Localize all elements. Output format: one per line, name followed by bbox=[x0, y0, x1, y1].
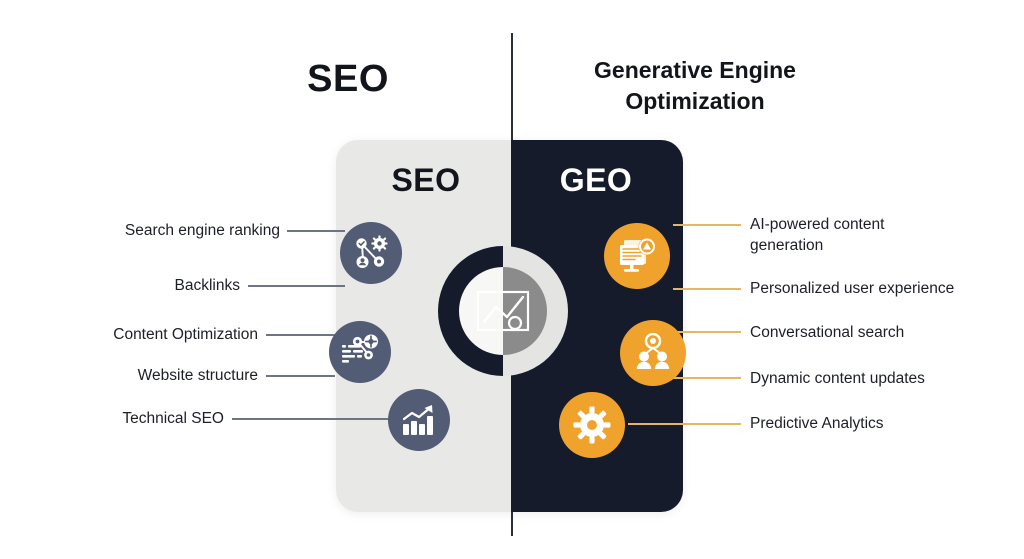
gear-icon bbox=[572, 405, 612, 445]
page-title-geo: Generative Engine Optimization bbox=[565, 55, 825, 116]
connector-seo-5 bbox=[232, 418, 394, 420]
geo-icon-bubble-monitor-ai-document[interactable] bbox=[604, 223, 670, 289]
monitor-ai-document-icon bbox=[616, 235, 658, 277]
page-title-seo: SEO bbox=[258, 60, 438, 98]
page-title-geo-line1: Generative Engine bbox=[565, 55, 825, 86]
page-title-geo-line2: Optimization bbox=[565, 86, 825, 117]
geo-label-line2: generation bbox=[750, 235, 935, 256]
card-label-geo: GEO bbox=[536, 164, 656, 196]
connector-geo-2 bbox=[673, 288, 741, 290]
geo-label-predictive-analytics: Predictive Analytics bbox=[750, 413, 884, 434]
bar-chart-growth-icon bbox=[400, 402, 438, 438]
geo-label-line1: AI-powered content bbox=[750, 214, 935, 235]
connector-geo-5 bbox=[628, 423, 741, 425]
card-label-seo: SEO bbox=[366, 164, 486, 196]
connector-seo-1 bbox=[287, 230, 345, 232]
content-nodes-icon bbox=[340, 333, 380, 371]
seo-icon-bubble-bar-chart-growth[interactable] bbox=[388, 389, 450, 451]
connector-seo-4 bbox=[266, 375, 335, 377]
center-emblem bbox=[431, 239, 575, 383]
seo-icon-bubble-content-nodes[interactable] bbox=[329, 321, 391, 383]
geo-icon-bubble-gear[interactable] bbox=[559, 392, 625, 458]
seo-label-website-structure: Website structure bbox=[70, 365, 258, 386]
connector-geo-1 bbox=[673, 224, 741, 226]
geo-label-dynamic-content-updates: Dynamic content updates bbox=[750, 368, 925, 389]
geo-label-personalized-user-experience: Personalized user experience bbox=[750, 278, 954, 299]
geo-label-ai-powered-content-generation: AI-powered content generation bbox=[750, 214, 935, 257]
connector-seo-3 bbox=[266, 334, 335, 336]
seo-label-content-optimization: Content Optimization bbox=[55, 324, 258, 345]
geo-label-conversational-search: Conversational search bbox=[750, 322, 904, 343]
geo-icon-bubble-users-node[interactable] bbox=[620, 320, 686, 386]
network-gear-icon bbox=[352, 234, 390, 272]
infographic-canvas: SEO Generative Engine Optimization SEO G… bbox=[0, 0, 1024, 559]
seo-icon-bubble-network-gear[interactable] bbox=[340, 222, 402, 284]
connector-seo-2 bbox=[248, 285, 345, 287]
seo-label-search-engine-ranking: Search engine ranking bbox=[70, 220, 280, 241]
users-node-icon bbox=[633, 333, 673, 373]
seo-label-backlinks: Backlinks bbox=[70, 275, 240, 296]
connector-geo-3 bbox=[673, 331, 741, 333]
seo-label-technical-seo: Technical SEO bbox=[70, 408, 224, 429]
connector-geo-4 bbox=[673, 377, 741, 379]
